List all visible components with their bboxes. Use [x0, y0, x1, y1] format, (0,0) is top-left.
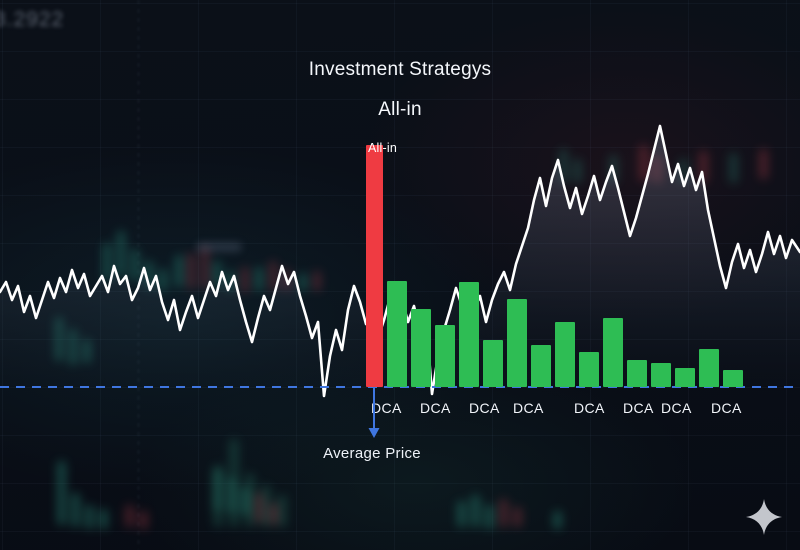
bar-dca-16: [699, 349, 719, 387]
dca-label-8: DCA: [711, 400, 742, 416]
bar-dca-12: [651, 363, 671, 387]
dca-label-7: DCA: [661, 400, 692, 416]
bar-all-in: [366, 145, 383, 387]
bar-dca-17: [723, 376, 743, 387]
page-title: Investment Strategys: [0, 59, 800, 81]
dca-label-2: DCA: [420, 400, 451, 416]
dca-label-4: DCA: [513, 400, 544, 416]
bar-dca-7: [531, 345, 551, 387]
bar-dca-4: [459, 282, 479, 387]
bar-dca-2: [411, 309, 431, 387]
allin-bar-tag: All-in: [368, 141, 397, 155]
dca-label-6: DCA: [623, 400, 654, 416]
dca-label-3: DCA: [469, 400, 500, 416]
sparkle-icon: [744, 497, 784, 537]
bar-dca-11: [627, 360, 647, 387]
investment-bars: [0, 0, 800, 550]
bar-dca-10: [603, 318, 623, 387]
page-subtitle: All-in: [0, 99, 800, 121]
bar-dca-9: [579, 352, 599, 387]
investment-strategy-infographic: 3.2922 DCADCADCADCADCADCADCADCA All-in: [0, 0, 800, 550]
foreground-chart: DCADCADCADCADCADCADCADCA All-in Investme…: [0, 0, 800, 550]
bar-dca-13: [675, 368, 695, 387]
bar-dca-3: [435, 325, 455, 387]
down-arrow-icon: [358, 388, 394, 444]
dca-label-5: DCA: [574, 400, 605, 416]
bar-dca-8: [555, 322, 575, 387]
bar-dca-5: [483, 340, 503, 387]
bar-dca-6: [507, 299, 527, 387]
average-price-caption: Average Price: [232, 445, 512, 462]
bar-dca-1: [387, 281, 407, 387]
